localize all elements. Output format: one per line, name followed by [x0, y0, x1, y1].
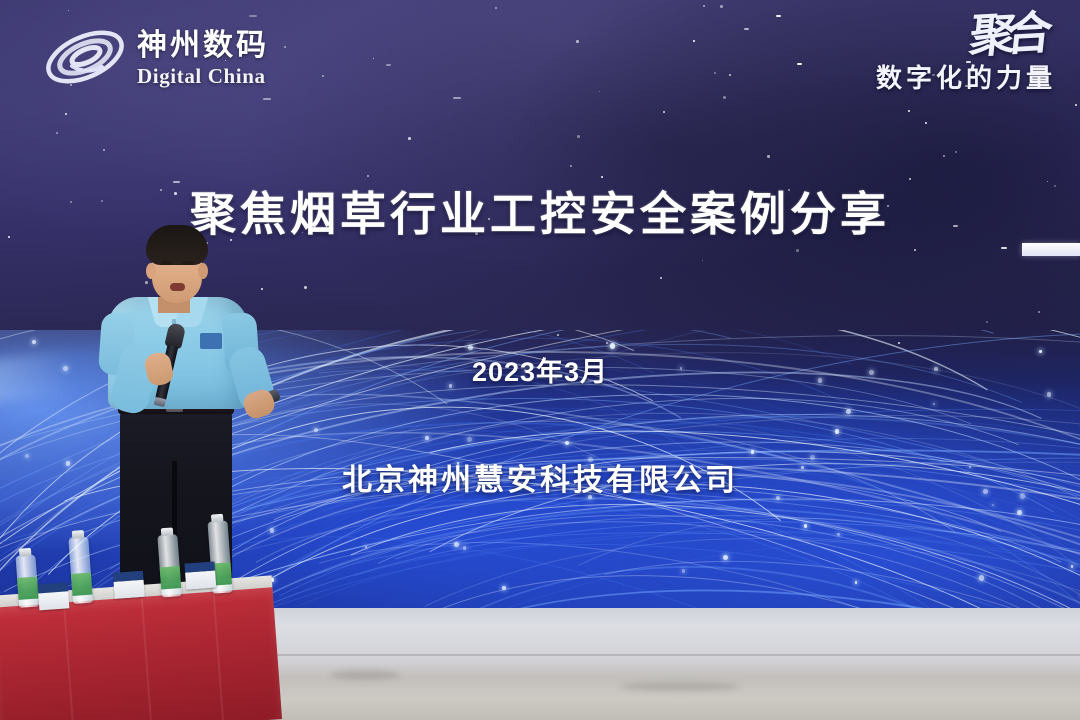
spark-particle [979, 575, 985, 581]
spark-particle [454, 542, 459, 547]
bottle-cap [211, 514, 224, 523]
accent-bar [1022, 243, 1080, 256]
bottle-label [17, 577, 39, 600]
name-card [184, 561, 216, 589]
spark-particle [1047, 392, 1052, 397]
bottle-label [71, 573, 93, 596]
conference-stage-photo: 神州数码 Digital China 聚合 数字化的力量 聚焦烟草行业工控安全案… [0, 0, 1080, 720]
mouth [170, 283, 185, 291]
brand-name-cn: 神州数码 [137, 31, 269, 61]
floor-scuff [330, 670, 400, 680]
speaker-hair [146, 225, 208, 265]
spark-particle [610, 343, 616, 349]
bottle-cap [72, 530, 85, 539]
chest-emblem-icon [200, 333, 222, 349]
speaker-head [144, 225, 210, 309]
spark-particle [682, 569, 686, 573]
spark-particle [855, 581, 858, 584]
digital-china-logo: 神州数码 Digital China [42, 20, 269, 94]
spark-particle [933, 403, 935, 405]
ear-right [198, 263, 208, 279]
eye-left [161, 261, 172, 265]
digital-china-wordmark: 神州数码 Digital China [137, 27, 269, 87]
spark-particle [365, 546, 367, 548]
brand-name-en: Digital China [137, 66, 269, 87]
cloth-fold [141, 597, 153, 720]
spark-particle [314, 428, 318, 432]
spark-particle [835, 429, 840, 434]
juhe-calligraphy: 聚合 [967, 12, 1058, 59]
front-row-table [0, 572, 274, 720]
cloth-fold [213, 592, 225, 720]
spark-particle [992, 504, 994, 506]
bottle-cap [19, 548, 32, 557]
speaker-person [96, 225, 276, 617]
ear-left [146, 263, 156, 279]
floor-scuff [620, 682, 740, 691]
juhe-tagline: 数字化的力量 [876, 58, 1056, 95]
name-card [113, 571, 145, 599]
spark-particle [502, 586, 506, 590]
bottle-label [160, 566, 182, 589]
spark-particle [1017, 510, 1022, 515]
cloth-fold [63, 603, 75, 720]
spark-particle [846, 409, 851, 414]
digital-china-swirl-logo [42, 20, 128, 94]
water-bottle [15, 555, 39, 608]
bottle-cap [161, 527, 174, 536]
name-card [38, 582, 70, 610]
spark-particle [463, 546, 467, 550]
eye-right [182, 261, 193, 265]
spark-particle [425, 436, 429, 440]
juhe-event-logo: 聚合 数字化的力量 [876, 14, 1056, 95]
